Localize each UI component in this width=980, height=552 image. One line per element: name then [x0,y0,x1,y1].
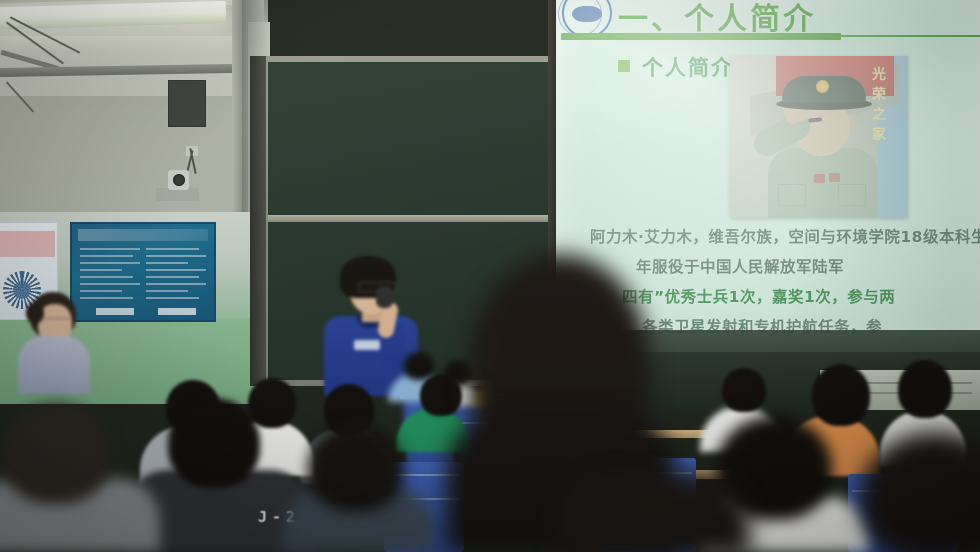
audience-member-head [722,368,766,412]
university-notice-board [70,222,216,322]
chalkboard-left-edge [250,56,266,386]
room-background: 一、个人简介 个人简介 光荣之家 [0,0,980,552]
torso [18,336,90,394]
foreground-shoulders [560,476,750,552]
notice-tag [158,308,196,315]
glasses-icon [40,318,70,325]
audience-member-head [898,360,952,418]
audience-member-head [308,424,404,512]
audience-member-head [812,364,870,426]
wall-speaker-icon [168,80,206,127]
classroom-photo-scene: 一、个人简介 个人简介 光荣之家 [0,0,980,552]
notice-tag [96,308,134,315]
audience-member-head [248,378,296,428]
audience-member-head [420,374,462,416]
audience-member-head [168,398,260,488]
camera-lens-icon [173,174,185,186]
audience-member-head [2,404,110,504]
wall-seam [232,0,242,232]
poster-headline [0,231,55,257]
chalkboard-rail [268,215,556,222]
notice-column [146,248,206,310]
audience-member-head [404,352,434,380]
seated-staff-member [16,292,90,392]
microphone-icon [376,286,393,308]
notice-board-header [78,229,208,241]
shirt-logo [354,340,380,350]
